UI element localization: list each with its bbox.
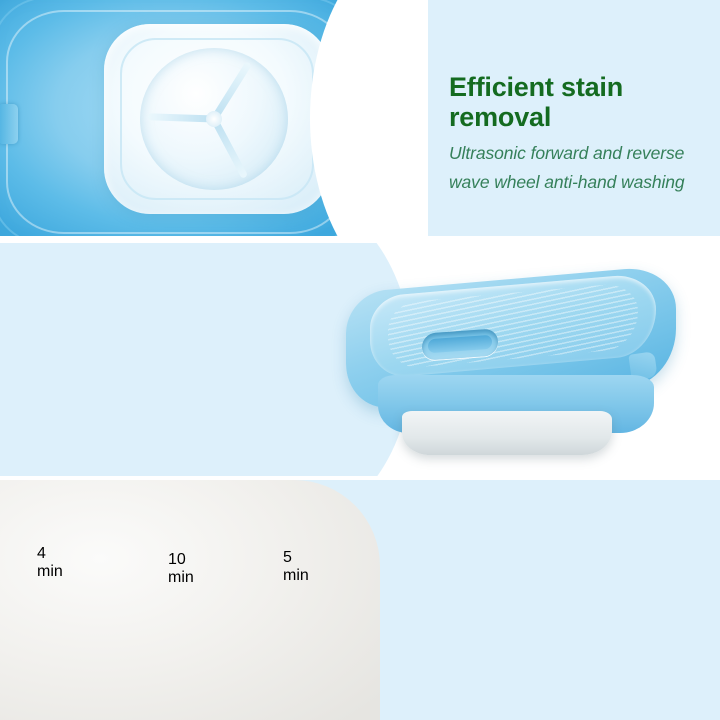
- timer-button-value: 4: [37, 545, 63, 563]
- timer-button-value: 5: [283, 549, 309, 567]
- pulsator-hub: [206, 111, 222, 127]
- folded-machine-photo: [300, 243, 720, 476]
- machine-base: [402, 411, 612, 455]
- tub-side-tab-left: [0, 104, 18, 144]
- feature-text-stain-removal: Efficient stain removal Ultrasonic forwa…: [449, 72, 704, 196]
- timer-button-4min[interactable]: 4 min: [37, 545, 63, 581]
- machine-lid-handle-recess: [428, 335, 492, 353]
- machine-lid-handle: [422, 328, 498, 360]
- feature-panel-stain-removal: Efficient stain removal Ultrasonic forwa…: [0, 0, 720, 236]
- feature-body-line: wave wheel anti-hand washing: [449, 168, 704, 196]
- timer-button-value: 10: [168, 551, 194, 569]
- timer-button-unit: min: [168, 569, 194, 587]
- feature-body-line: Ultrasonic forward and reverse: [449, 139, 704, 167]
- timer-button-unit: min: [283, 567, 309, 585]
- timer-button-10min[interactable]: 10 min: [168, 551, 194, 587]
- pulsator-disc: [140, 48, 288, 190]
- timer-button-5min[interactable]: 5 min: [283, 549, 309, 585]
- timer-button-unit: min: [37, 563, 63, 581]
- feature-panel-timing: Timing Smart touch screen design, choose…: [0, 480, 720, 720]
- control-panel-surface: [0, 480, 380, 720]
- pulsator-blade: [148, 113, 214, 122]
- feature-heading: Efficient stain removal: [449, 72, 704, 132]
- control-panel-photo: [0, 480, 420, 720]
- feature-body: Ultrasonic forward and reverse wave whee…: [449, 139, 704, 196]
- product-feature-infographic: Efficient stain removal Ultrasonic forwa…: [0, 0, 720, 720]
- photo-rounded-mask: [310, 0, 428, 236]
- tub-top-view-photo: [0, 0, 428, 236]
- feature-panel-foldable: Foldable Travel, easy to put into the su…: [0, 243, 720, 476]
- folded-machine-body: [334, 279, 690, 457]
